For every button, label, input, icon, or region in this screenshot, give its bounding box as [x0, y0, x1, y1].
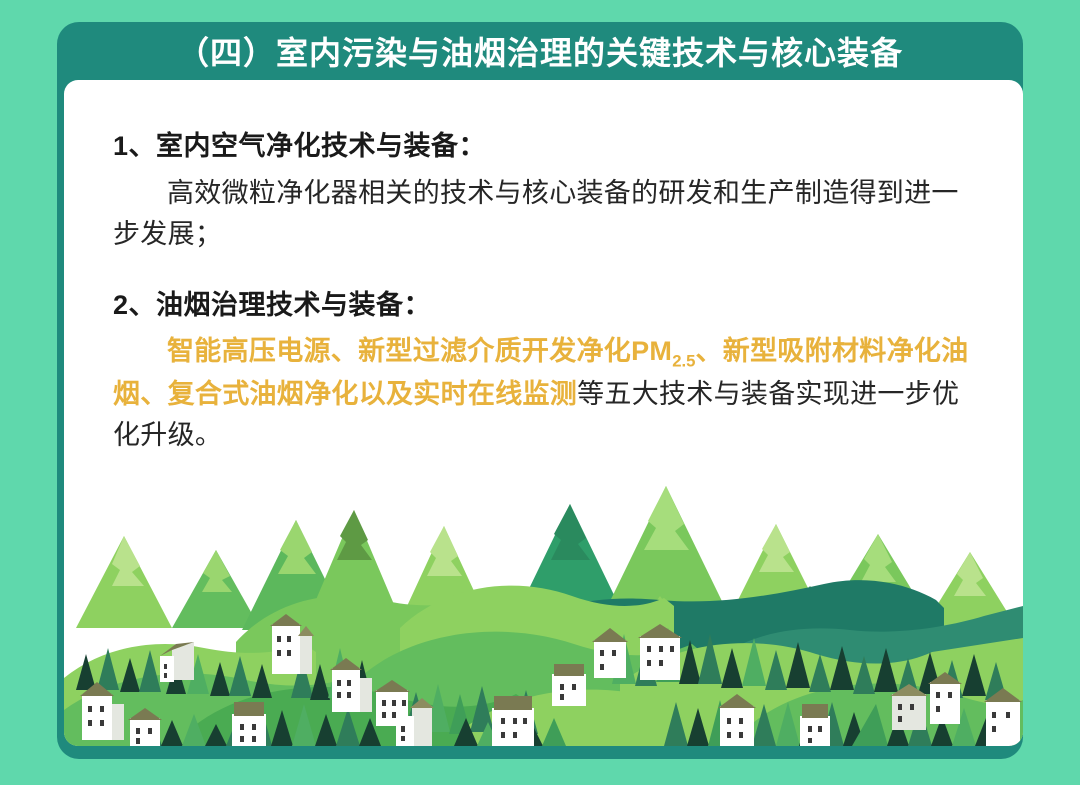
paragraph-spacer	[113, 255, 981, 285]
content-panel: 1、室内空气净化技术与装备： 高效微粒净化器相关的技术与核心装备的研发和生产制造…	[64, 80, 1023, 746]
house	[552, 664, 586, 706]
section-heading-1: 1、室内空气净化技术与装备：	[113, 126, 981, 167]
house	[492, 696, 534, 746]
text-body: 1、室内空气净化技术与装备： 高效微粒净化器相关的技术与核心装备的研发和生产制造…	[113, 126, 981, 456]
mountain-village-illustration	[64, 478, 1023, 746]
section-body-1: 高效微粒净化器相关的技术与核心装备的研发和生产制造得到进一步发展；	[113, 173, 981, 255]
page-title: （四）室内污染与油烟治理的关键技术与核心装备	[177, 37, 903, 69]
house	[232, 702, 266, 746]
house	[800, 704, 830, 746]
highlight-text-part1: 智能高压电源、新型过滤介质开发净化PM	[167, 336, 672, 366]
highlight-subscript: 2.5	[672, 351, 695, 370]
header-bar: （四）室内污染与油烟治理的关键技术与核心装备	[57, 22, 1023, 84]
section-body-2: 智能高压电源、新型过滤介质开发净化PM2.5、新型吸附材料净化油烟、复合式油烟净…	[113, 331, 981, 456]
section-heading-2: 2、油烟治理技术与装备：	[113, 285, 981, 326]
